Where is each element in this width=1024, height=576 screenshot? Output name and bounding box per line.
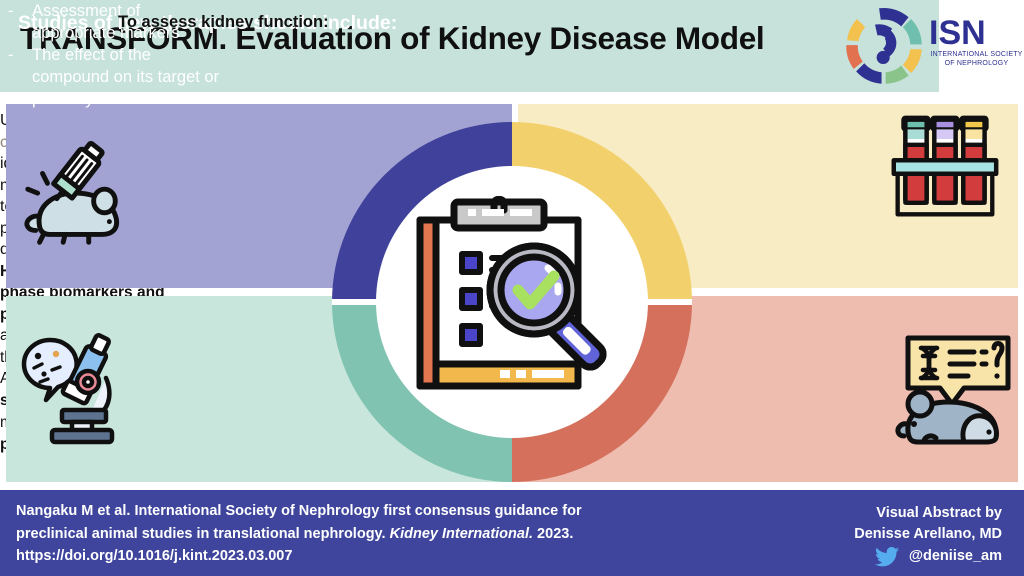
citation-journal: Kidney International. xyxy=(390,526,533,542)
isn-logo: ISN INTERNATIONAL SOCIETY OF NEPHROLOGY xyxy=(843,3,1024,89)
credit-block: Visual Abstract by Denisse Arellano, MD … xyxy=(752,503,1002,567)
microscope-icon xyxy=(12,330,136,450)
isn-letters: ISN xyxy=(929,15,1024,51)
isn-circular-mark-icon xyxy=(843,5,925,87)
credit-handle-row: @deniise_am xyxy=(752,546,1002,567)
visual-abstract-poster: TRANSFORM. Evaluation of Kidney Disease … xyxy=(0,0,1024,576)
list-item-label: The effect of the compound on its target… xyxy=(32,46,219,108)
mouse-with-syringe-icon xyxy=(14,140,132,258)
isn-subtitle-line1: INTERNATIONAL SOCIETY xyxy=(929,51,1024,60)
credit-line1: Visual Abstract by xyxy=(752,503,1002,524)
bullet-dash: - xyxy=(8,0,14,22)
mouse-with-dna-speech-bubble-icon xyxy=(890,332,1016,452)
bullet-dash: - xyxy=(8,44,14,66)
footer-bar: Nangaku M et al. International Society o… xyxy=(0,490,1024,576)
credit-line2: Denisse Arellano, MD xyxy=(752,524,1002,545)
twitter-bird-icon[interactable] xyxy=(875,547,899,567)
citation-text: Nangaku M et al. International Society o… xyxy=(16,500,596,568)
blood-test-tubes-icon xyxy=(886,112,1002,224)
isn-wordmark: ISN INTERNATIONAL SOCIETY OF NEPHROLOGY xyxy=(929,15,1024,68)
list-item: - The effect of the compound on its targ… xyxy=(0,44,225,110)
isn-subtitle-line2: OF NEPHROLOGY xyxy=(929,60,1024,69)
credit-handle[interactable]: @deniise_am xyxy=(909,546,1002,567)
clipboard-checklist-magnifier-icon xyxy=(398,196,610,408)
top-right-heading: To assess kidney function: xyxy=(118,13,329,32)
